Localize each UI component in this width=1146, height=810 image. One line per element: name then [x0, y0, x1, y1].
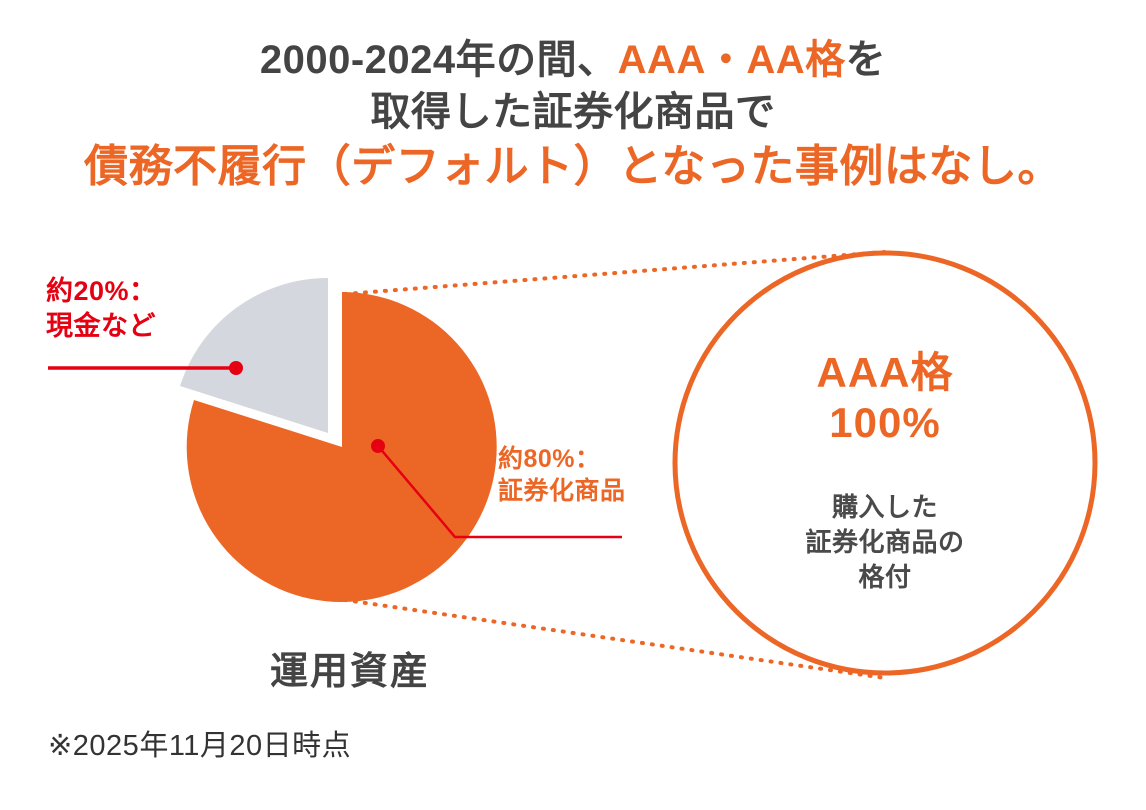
leader-dot-securitized: [371, 439, 385, 453]
callout-circle: [675, 253, 1095, 673]
pie-label-cash: 約20%： 現金など: [46, 274, 157, 343]
pie-label-securitized: 約80%： 証券化商品: [498, 443, 626, 507]
infographic-card: 2000-2024年の間、AAA・AA格を 取得した証券化商品で 債務不履行（デ…: [0, 0, 1146, 810]
callout-caption-text: 購入した 証券化商品の 格付: [673, 490, 1097, 595]
callout-rating-text: AAA格 100%: [673, 348, 1097, 447]
pie-chart-title: 運用資産: [185, 640, 515, 695]
leader-dot-cash: [229, 361, 243, 375]
footnote-text: ※2025年11月20日時点: [48, 722, 351, 764]
